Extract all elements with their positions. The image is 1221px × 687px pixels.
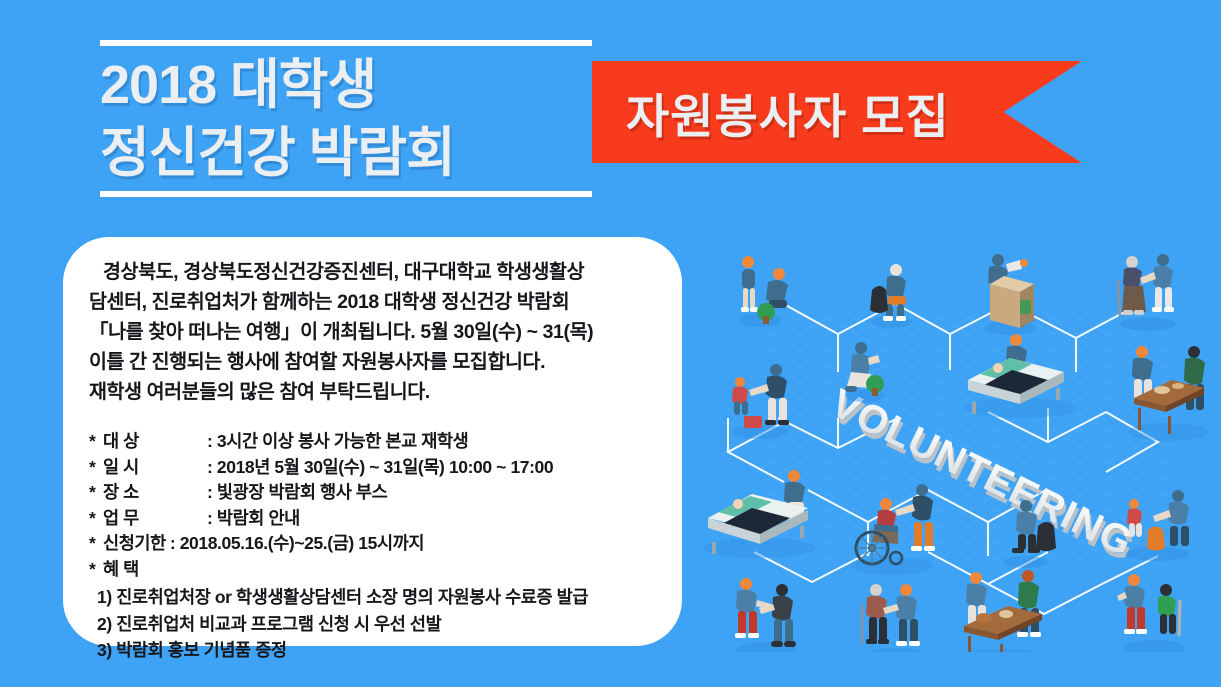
bullet-value: 2018.05.16.(수)~25.(금) 15시까지 [180,531,424,557]
intro-line-3-bold: 「나를 찾아 떠나는 여행」 [89,321,300,343]
bullet-star: * [89,480,103,506]
bullet-separator: : [207,480,212,506]
bullet-separator: : [207,506,212,532]
bullet-value: 3시간 이상 봉사 가능한 본교 재학생 [217,429,468,455]
recruit-ribbon: 자원봉사자 모집 [592,61,1082,163]
node-trash-pickup-bag [870,264,912,328]
bullet-row-duty: * 업 무 : 박람회 안내 [89,506,664,532]
bullet-row-location: * 장 소 : 빛광장 박람회 행사 부스 [89,480,664,506]
node-assist-child-crutch [1117,574,1186,652]
benefit-item: 3) 박람회 홍보 기념품 증정 [89,637,664,664]
bullet-label: 업 무 [103,506,207,532]
bullet-row-benefits-header: * 혜 택 [89,557,664,583]
bullet-separator: : [170,531,175,557]
node-soup-kitchen [954,570,1050,652]
bullet-label: 대 상 [103,429,207,455]
intro-line-5: 재학생 여러분들의 많은 참여 부탁드립니다. [89,377,664,407]
bullet-label: 일 시 [103,455,207,481]
bullet-star: * [89,455,103,481]
intro-line-4: 이틀 간 진행되는 행사에 참여할 자원봉사자를 모집합니다. [89,347,664,377]
poster-canvas: 2018 대학생 정신건강 박람회 자원봉사자 모집 경상북도, 경상북도정신건… [0,0,1221,687]
intro-line-3-normal: 이 개최됩니다. 5월 30일(수) ~ 31(목) [300,321,593,343]
node-handshake-greeting [735,578,796,652]
intro-paragraph: 경상북도, 경상북도정신건강증진센터, 대구대학교 학생생활상 담센터, 진로취… [89,257,664,407]
bullet-value: 빛광장 박람회 행사 부스 [217,480,387,506]
bullet-separator: : [207,429,212,455]
intro-line-3: 「나를 찾아 떠나는 여행」이 개최됩니다. 5월 30일(수) ~ 31(목) [89,317,664,347]
bullet-row-datetime: * 일 시 : 2018년 5월 30일(수) ~ 31일(목) 10:00 ~… [89,455,664,481]
intro-line-1: 경상북도, 경상북도정신건강증진센터, 대구대학교 학생생활상 [89,257,664,287]
bullet-value: 2018년 5월 30일(수) ~ 31일(목) 10:00 ~ 17:00 [217,455,553,481]
detail-bullet-list: * 대 상 : 3시간 이상 봉사 가능한 본교 재학생 * 일 시 : 201… [89,429,664,664]
bullet-star: * [89,429,103,455]
intro-line-2-normal: 담센터, 진로취업처가 함께하는 [89,291,337,313]
bullet-label: 혜 택 [103,557,143,583]
bullet-label: 장 소 [103,480,207,506]
title-line-1: 2018 대학생 [100,51,595,119]
intro-line-2: 담센터, 진로취업처가 함께하는 2018 대학생 정신건강 박람회 [89,287,664,317]
poster-title: 2018 대학생 정신건강 박람회 [100,48,595,190]
bullet-value: 박람회 안내 [217,506,300,532]
bullet-row-deadline: * 신청기한 : 2018.05.16.(수)~25.(금) 15시까지 [89,531,664,557]
bullet-row-target: * 대 상 : 3시간 이상 봉사 가능한 본교 재학생 [89,429,664,455]
info-card: 경상북도, 경상북도정신건강증진센터, 대구대학교 학생생활상 담센터, 진로취… [63,237,682,646]
benefit-list: 1) 진로취업처장 or 학생생활상담센터 소장 명의 자원봉사 수료증 발급 … [89,584,664,664]
bullet-star: * [89,531,103,557]
intro-line-2-bold: 2018 대학생 정신건강 박람회 [337,291,569,313]
bullet-label: 신청기한 [103,531,170,557]
title-line-2: 정신건강 박람회 [100,119,595,187]
bullet-separator: : [207,455,212,481]
benefit-item: 1) 진로취업처장 or 학생생활상담센터 소장 명의 자원봉사 수료증 발급 [89,584,664,611]
title-rule-top [100,40,592,46]
title-rule-bottom [100,191,592,197]
ribbon-label: 자원봉사자 모집 [626,78,950,147]
benefit-item: 2) 진로취업처 비교과 프로그램 신청 시 우선 선발 [89,611,664,638]
bullet-star: * [89,557,103,583]
node-supporting-elderly [862,584,930,652]
volunteering-illustration: VOLUNTEERING VOLUNTEERING [688,222,1221,652]
bullet-star: * [89,506,103,532]
